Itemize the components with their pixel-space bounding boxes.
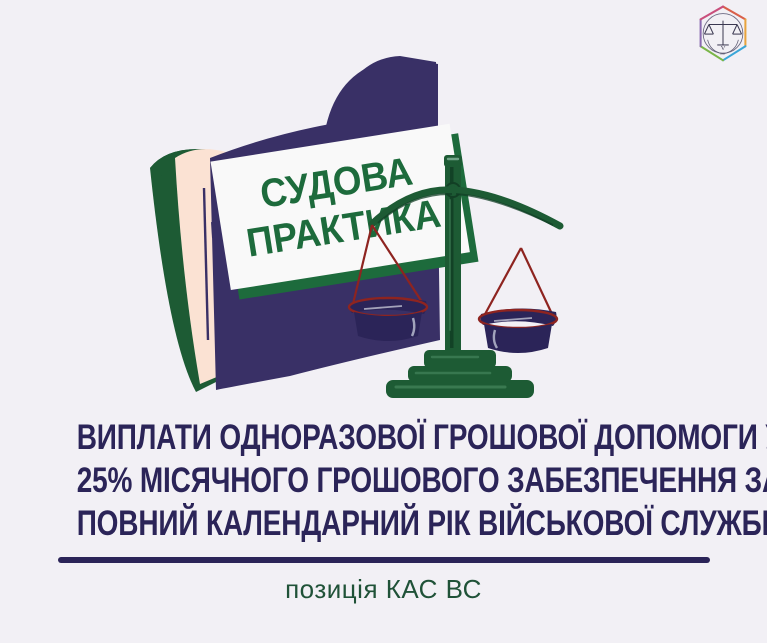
poster-canvas: V ВСУ СУДО (0, 0, 767, 643)
scale-column-cap (444, 155, 462, 167)
title-line-1: ВИПЛАТИ ОДНОРАЗОВОЇ ГРОШОВОЇ ДОПОМОГИ У … (77, 416, 691, 459)
title-line-2: 25% МІСЯЧНОГО ГРОШОВОГО ЗАБЕЗПЕЧЕННЯ ЗА … (77, 459, 691, 502)
emblem-caption: ВСУ (720, 52, 726, 56)
illustration-svg: СУДОВА ПРАКТИКА (0, 40, 640, 410)
scales-of-justice-icon (704, 21, 741, 45)
title-divider (58, 557, 710, 563)
scale-base-bottom (386, 380, 534, 398)
title-line-3: ПОВНИЙ КАЛЕНДАРНИЙ РІК ВІЙСЬКОВОЇ СЛУЖБИ (77, 502, 691, 545)
left-pan-bowl (354, 312, 422, 341)
poster-title: ВИПЛАТИ ОДНОРАЗОВОЇ ГРОШОВОЇ ДОПОМОГИ У … (0, 416, 767, 545)
supreme-court-of-ukraine-emblem: V ВСУ (690, 4, 756, 68)
judicial-practice-illustration: СУДОВА ПРАКТИКА (0, 40, 640, 410)
emblem-svg: V ВСУ (690, 4, 756, 68)
poster-subtitle: позиція КАС ВС (0, 574, 767, 605)
right-scale-pan (479, 248, 557, 353)
right-pan-strings (484, 248, 554, 316)
